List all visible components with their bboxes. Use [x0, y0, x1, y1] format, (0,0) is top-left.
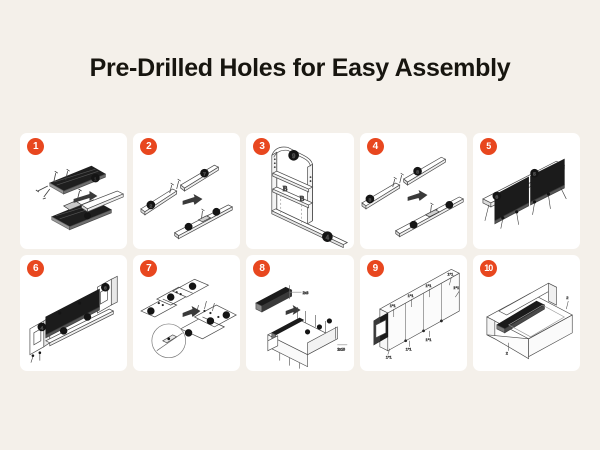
step-number-badge: 5 [480, 138, 497, 155]
steps-grid: 1 [20, 133, 580, 371]
step-card-1[interactable]: 1 [20, 133, 127, 249]
step-number-badge: 10 [480, 260, 497, 277]
svg-text:1*1: 1*1 [389, 303, 396, 308]
page-title: Pre-Drilled Holes for Easy Assembly [0, 54, 600, 83]
step-number-badge: 6 [27, 260, 44, 277]
svg-text:1*1: 1*1 [405, 347, 412, 352]
svg-text:2: 2 [506, 351, 508, 356]
svg-text:1*1: 1*1 [385, 355, 392, 360]
svg-text:1*1: 1*1 [425, 283, 432, 288]
svg-text:4: 4 [40, 325, 43, 331]
step-number-badge: 4 [367, 138, 384, 155]
svg-text:1*1: 1*1 [425, 337, 432, 342]
svg-text:B: B [300, 195, 305, 203]
step-card-10[interactable]: 10 [473, 255, 580, 371]
svg-text:1: 1 [94, 177, 97, 183]
svg-text:6: 6 [495, 194, 498, 200]
svg-text:5: 5 [533, 172, 536, 178]
step-card-4[interactable]: 4 [360, 133, 467, 249]
step-card-7[interactable]: 7 [133, 255, 240, 371]
step-card-2[interactable]: 2 [133, 133, 240, 249]
step-card-5[interactable]: 5 6 [473, 133, 580, 249]
step-card-6[interactable]: 6 [20, 255, 127, 371]
svg-text:B: B [283, 185, 288, 193]
svg-text:2: 2 [566, 295, 568, 300]
svg-text:1*1: 1*1 [447, 271, 454, 276]
svg-text:2x10: 2x10 [338, 348, 346, 352]
assembly-instructions-page: Pre-Drilled Holes for Easy Assembly 1 [0, 0, 600, 450]
step-number-badge: 1 [27, 138, 44, 155]
svg-text:8: 8 [416, 170, 419, 176]
svg-text:2x8: 2x8 [303, 291, 309, 295]
step-card-8[interactable]: 8 2x8 [246, 255, 353, 371]
svg-text:3: 3 [368, 197, 371, 203]
step-number-badge: 9 [367, 260, 384, 277]
svg-text:1*1: 1*1 [453, 285, 460, 290]
svg-text:2: 2 [150, 203, 153, 209]
step-card-3[interactable]: 3 [246, 133, 353, 249]
step-card-9[interactable]: 9 [360, 255, 467, 371]
svg-text:1*1: 1*1 [407, 293, 414, 298]
svg-text:6: 6 [104, 286, 107, 292]
svg-text:7: 7 [203, 172, 206, 178]
